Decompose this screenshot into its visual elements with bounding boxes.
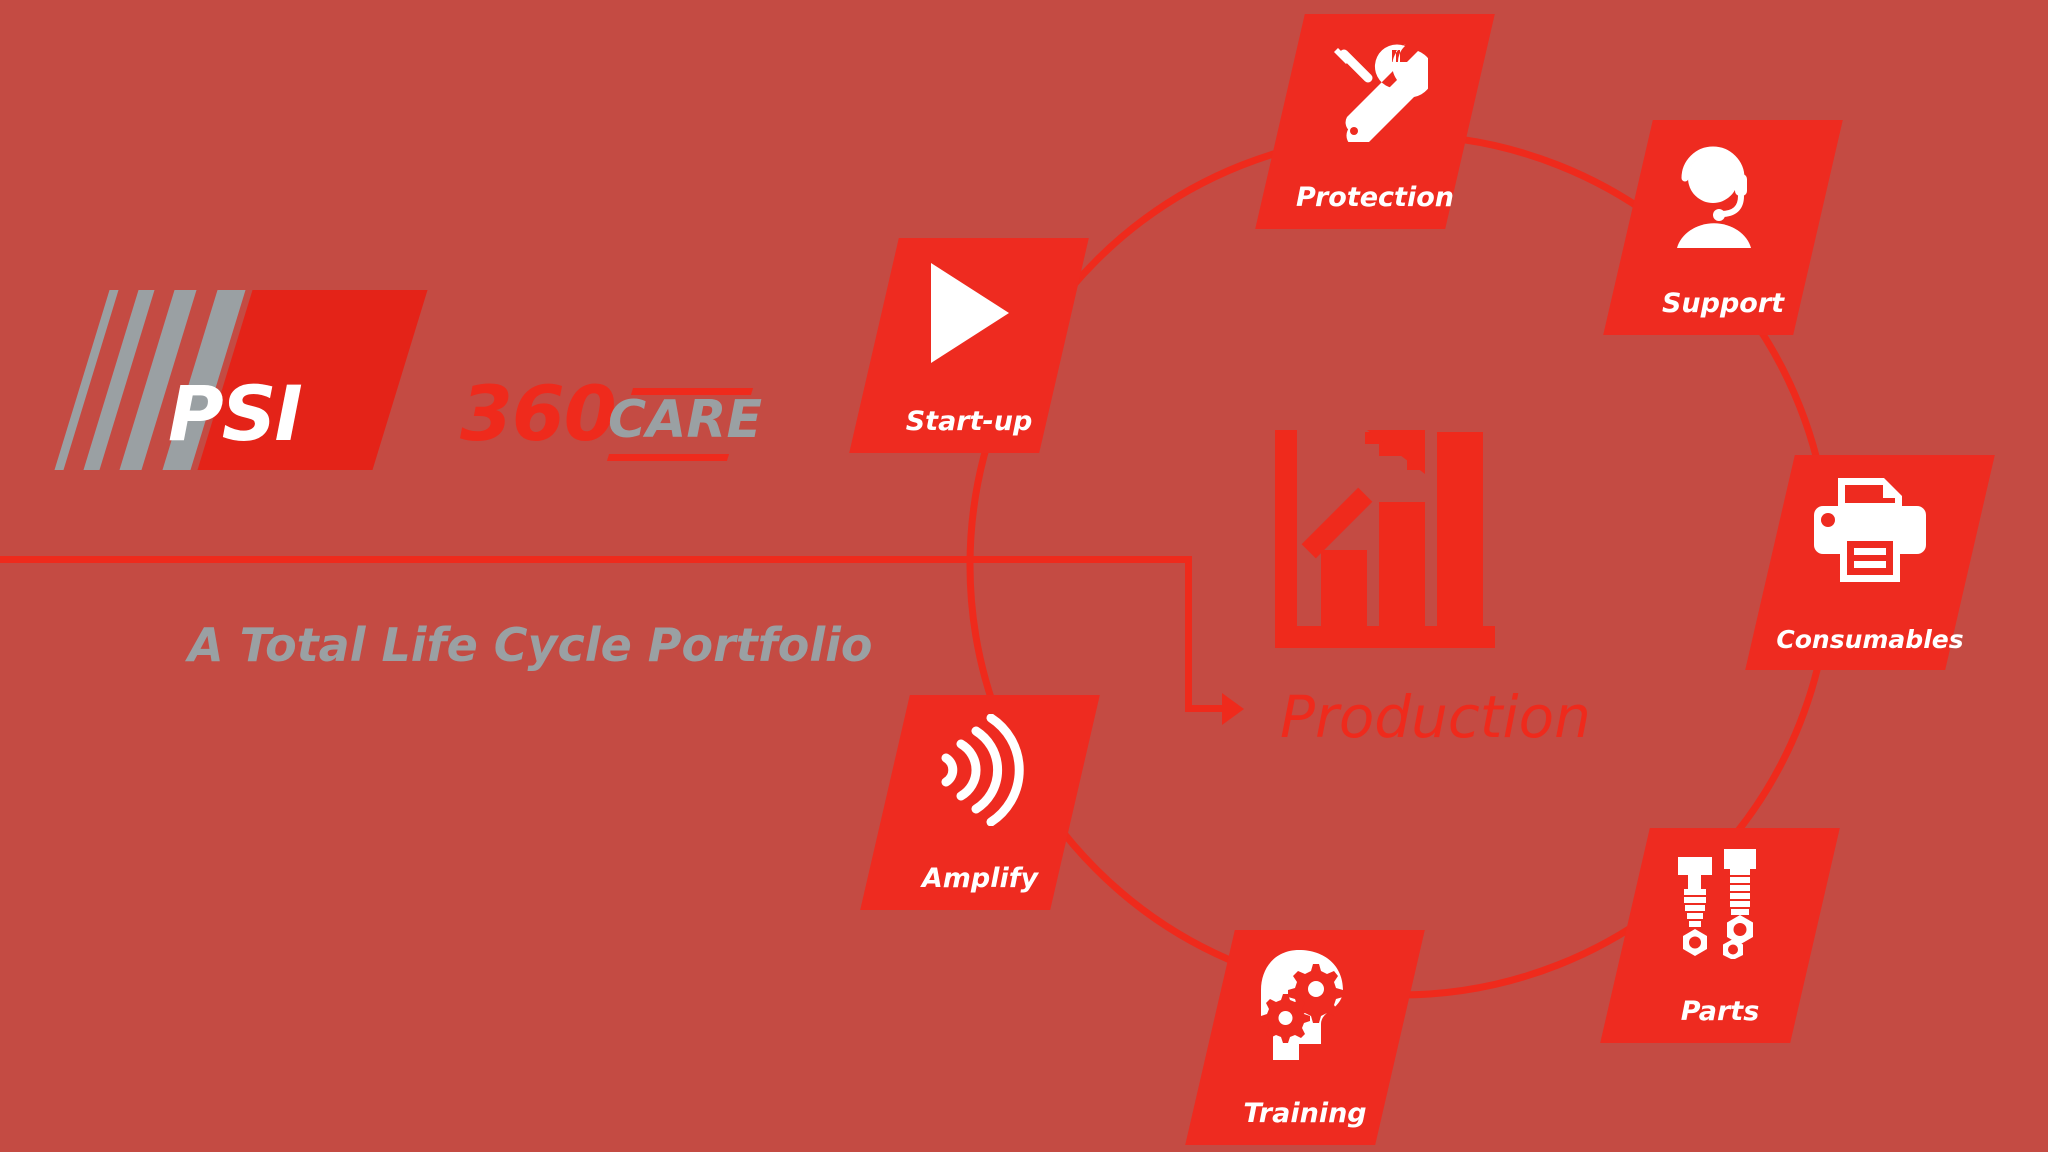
cycle-tile-parts[interactable]: Parts [1625,828,1815,1043]
horizontal-divider-line [0,556,1192,563]
tile-label: Start-up [874,406,1064,437]
brand-logo: PSI 360 CARE [60,290,780,490]
cycle-tile-amplify[interactable]: Amplify [885,695,1075,910]
tile-label: Amplify [885,863,1075,894]
broadcast-waves-icon [885,711,1075,829]
wrench-screwdriver-icon [1280,30,1470,148]
growth-bar-chart-icon [1275,430,1495,670]
tile-label: Parts [1625,996,1815,1027]
cycle-tile-support[interactable]: Support [1628,120,1818,335]
logo-care-text: CARE [608,394,762,446]
cycle-tile-start-up[interactable]: Start-up [874,238,1064,453]
tile-label: Protection [1280,182,1470,213]
cycle-tile-consumables[interactable]: Consumables [1770,455,1970,670]
tagline: A Total Life Cycle Portfolio [188,618,873,672]
elbow-connector-vertical [1185,556,1192,712]
cycle-tile-training[interactable]: Training [1210,930,1400,1145]
logo-psi-text: PSI [168,376,301,452]
tile-label: Consumables [1770,625,1970,654]
logo-stripe-icon [54,290,118,470]
printer-icon [1770,471,1970,589]
production-centerpiece: Production [1275,430,1775,740]
headset-person-icon [1628,136,1818,254]
psi-360-care-infographic: PSI 360 CARE A Total Life Cycle Portfoli… [0,0,2048,1152]
production-label: Production [1280,683,1591,751]
head-gears-icon [1210,946,1400,1064]
bolts-nuts-icon [1625,844,1815,962]
cycle-tile-protection[interactable]: Protection [1280,14,1470,229]
logo-360-text: 360 [460,376,616,452]
logo-care-rule-bottom [607,454,729,461]
play-triangle-icon [874,254,1064,372]
tile-label: Training [1210,1098,1400,1129]
tile-label: Support [1628,288,1818,319]
arrow-head-icon [1222,693,1244,725]
elbow-connector-horizontal [1185,705,1227,712]
